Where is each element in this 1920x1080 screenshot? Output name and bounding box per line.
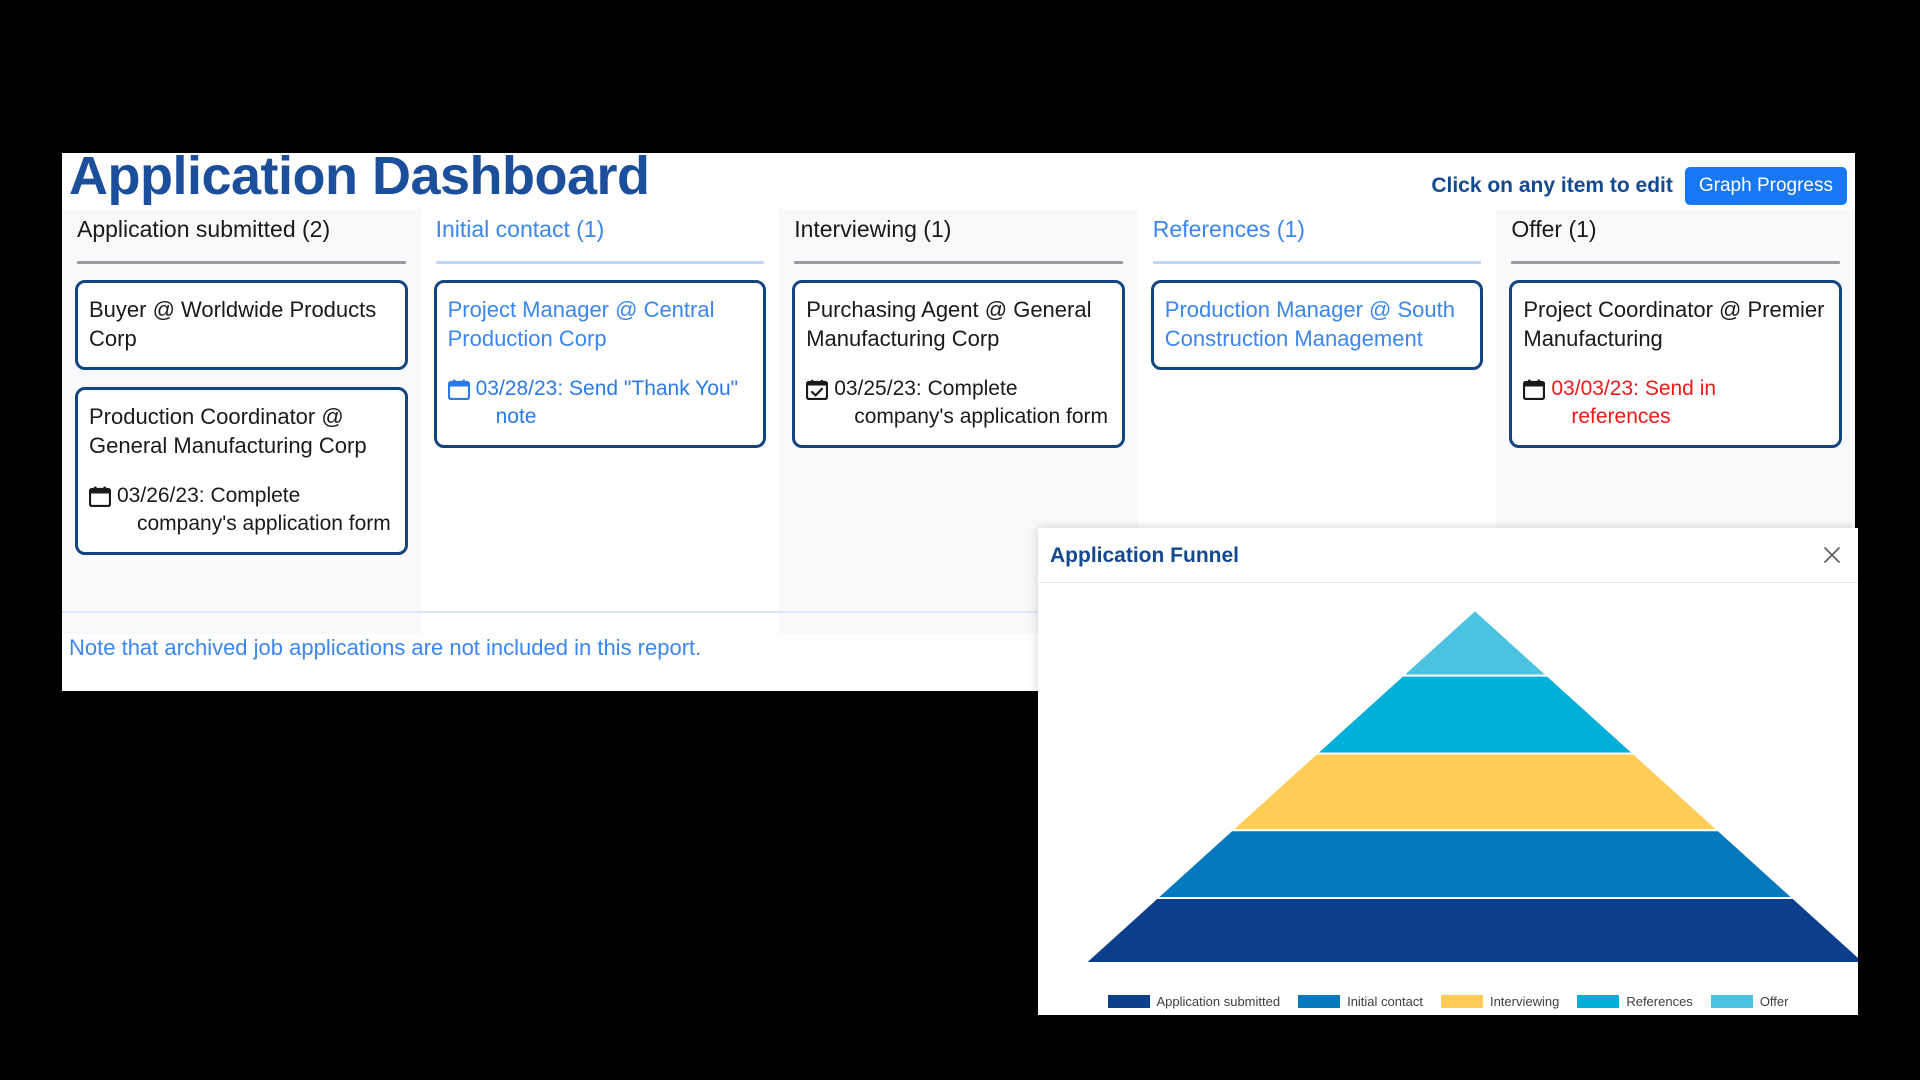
legend-item[interactable]: Interviewing bbox=[1441, 994, 1559, 1009]
task-label-cont: company's application form bbox=[117, 510, 394, 538]
application-card-title: Buyer @ Worldwide Products Corp bbox=[89, 295, 394, 353]
legend-swatch bbox=[1298, 995, 1340, 1008]
task-text: 03/28/23: Send "Thank You" note bbox=[475, 375, 753, 431]
task-label-cont: references bbox=[1551, 403, 1828, 431]
task-text: 03/25/23: Complete company's application… bbox=[833, 375, 1111, 431]
application-card-title: Production Manager @ South Construction … bbox=[1165, 295, 1470, 353]
application-card[interactable]: Production Coordinator @ General Manufac… bbox=[75, 387, 408, 555]
card-task[interactable]: 03/26/23: Complete company's application… bbox=[89, 482, 394, 538]
column-cards: Purchasing Agent @ General Manufacturing… bbox=[792, 264, 1125, 448]
column-header: Interviewing (1) bbox=[792, 209, 1125, 243]
calendar-icon bbox=[1523, 379, 1545, 400]
legend-label: Interviewing bbox=[1490, 994, 1559, 1009]
application-card[interactable]: Production Manager @ South Construction … bbox=[1151, 280, 1484, 370]
funnel-segment[interactable] bbox=[1316, 676, 1633, 754]
funnel-header: Application Funnel bbox=[1038, 528, 1858, 583]
column-initial-contact: Initial contact (1) Project Manager @ Ce… bbox=[421, 209, 780, 634]
legend-swatch bbox=[1711, 995, 1753, 1008]
close-icon[interactable] bbox=[1818, 541, 1846, 569]
column-cards: Production Manager @ South Construction … bbox=[1151, 264, 1484, 370]
task-text: 03/26/23: Complete company's application… bbox=[116, 482, 394, 538]
card-task-overdue[interactable]: 03/03/23: Send in references bbox=[1523, 375, 1828, 431]
column-cards: Buyer @ Worldwide Products Corp Producti… bbox=[75, 264, 408, 555]
column-header: Offer (1) bbox=[1509, 209, 1842, 243]
legend-swatch bbox=[1441, 995, 1483, 1008]
column-application-submitted: Application submitted (2) Buyer @ Worldw… bbox=[62, 209, 421, 634]
legend-item[interactable]: Initial contact bbox=[1298, 994, 1423, 1009]
column-header: References (1) bbox=[1151, 209, 1484, 243]
page-title: Application Dashboard bbox=[69, 145, 650, 207]
chart-legend: Application submittedInitial contactInte… bbox=[1038, 994, 1858, 1009]
funnel-title: Application Funnel bbox=[1050, 544, 1239, 568]
legend-item[interactable]: References bbox=[1577, 994, 1692, 1009]
calendar-check-icon bbox=[806, 379, 828, 400]
legend-item[interactable]: Offer bbox=[1711, 994, 1789, 1009]
funnel-segment[interactable] bbox=[1157, 830, 1793, 898]
task-date: 03/03/23: bbox=[1551, 377, 1639, 400]
task-date: 03/28/23: bbox=[476, 377, 564, 400]
task-text: 03/03/23: Send in references bbox=[1550, 375, 1828, 431]
column-cards: Project Manager @ Central Production Cor… bbox=[434, 264, 767, 448]
column-cards: Project Coordinator @ Premier Manufactur… bbox=[1509, 264, 1842, 448]
application-card[interactable]: Project Manager @ Central Production Cor… bbox=[434, 280, 767, 448]
funnel-pyramid-chart bbox=[1038, 583, 1858, 975]
legend-item[interactable]: Application submitted bbox=[1108, 994, 1281, 1009]
application-card-title: Project Coordinator @ Premier Manufactur… bbox=[1523, 295, 1828, 353]
legend-label: Offer bbox=[1760, 994, 1789, 1009]
column-header: Initial contact (1) bbox=[434, 209, 767, 243]
card-task[interactable]: 03/25/23: Complete company's application… bbox=[806, 375, 1111, 431]
task-label-cont: note bbox=[476, 403, 753, 431]
application-funnel-panel: Application Funnel Application submitted… bbox=[1038, 528, 1858, 1015]
legend-label: References bbox=[1626, 994, 1692, 1009]
funnel-chart-area: Application submittedInitial contactInte… bbox=[1038, 583, 1858, 1015]
card-task[interactable]: 03/28/23: Send "Thank You" note bbox=[448, 375, 753, 431]
application-card[interactable]: Project Coordinator @ Premier Manufactur… bbox=[1509, 280, 1842, 448]
legend-swatch bbox=[1108, 995, 1150, 1008]
task-label: Send "Thank You" bbox=[569, 377, 738, 400]
footer-note: Note that archived job applications are … bbox=[69, 635, 701, 661]
edit-hint-text: Click on any item to edit bbox=[1431, 174, 1673, 198]
calendar-icon bbox=[448, 379, 470, 400]
task-date: 03/25/23: bbox=[834, 377, 922, 400]
application-card-title: Project Manager @ Central Production Cor… bbox=[448, 295, 753, 353]
task-label: Complete bbox=[210, 484, 300, 507]
application-card-title: Production Coordinator @ General Manufac… bbox=[89, 402, 394, 460]
application-card[interactable]: Buyer @ Worldwide Products Corp bbox=[75, 280, 408, 370]
application-card[interactable]: Purchasing Agent @ General Manufacturing… bbox=[792, 280, 1125, 448]
header-actions: Click on any item to edit Graph Progress bbox=[1431, 167, 1847, 205]
application-card-title: Purchasing Agent @ General Manufacturing… bbox=[806, 295, 1111, 353]
funnel-segment[interactable] bbox=[1085, 898, 1858, 963]
legend-label: Initial contact bbox=[1347, 994, 1423, 1009]
legend-swatch bbox=[1577, 995, 1619, 1008]
task-date: 03/26/23: bbox=[117, 484, 205, 507]
column-header: Application submitted (2) bbox=[75, 209, 408, 243]
calendar-icon bbox=[89, 486, 111, 507]
funnel-segment[interactable] bbox=[1402, 610, 1547, 676]
task-label: Complete bbox=[928, 377, 1018, 400]
funnel-segment[interactable] bbox=[1232, 754, 1719, 831]
screen: Application Dashboard Click on any item … bbox=[0, 0, 1920, 1080]
graph-progress-button[interactable]: Graph Progress bbox=[1685, 167, 1847, 205]
task-label: Send in bbox=[1645, 377, 1716, 400]
task-label-cont: company's application form bbox=[834, 403, 1111, 431]
legend-label: Application submitted bbox=[1157, 994, 1281, 1009]
